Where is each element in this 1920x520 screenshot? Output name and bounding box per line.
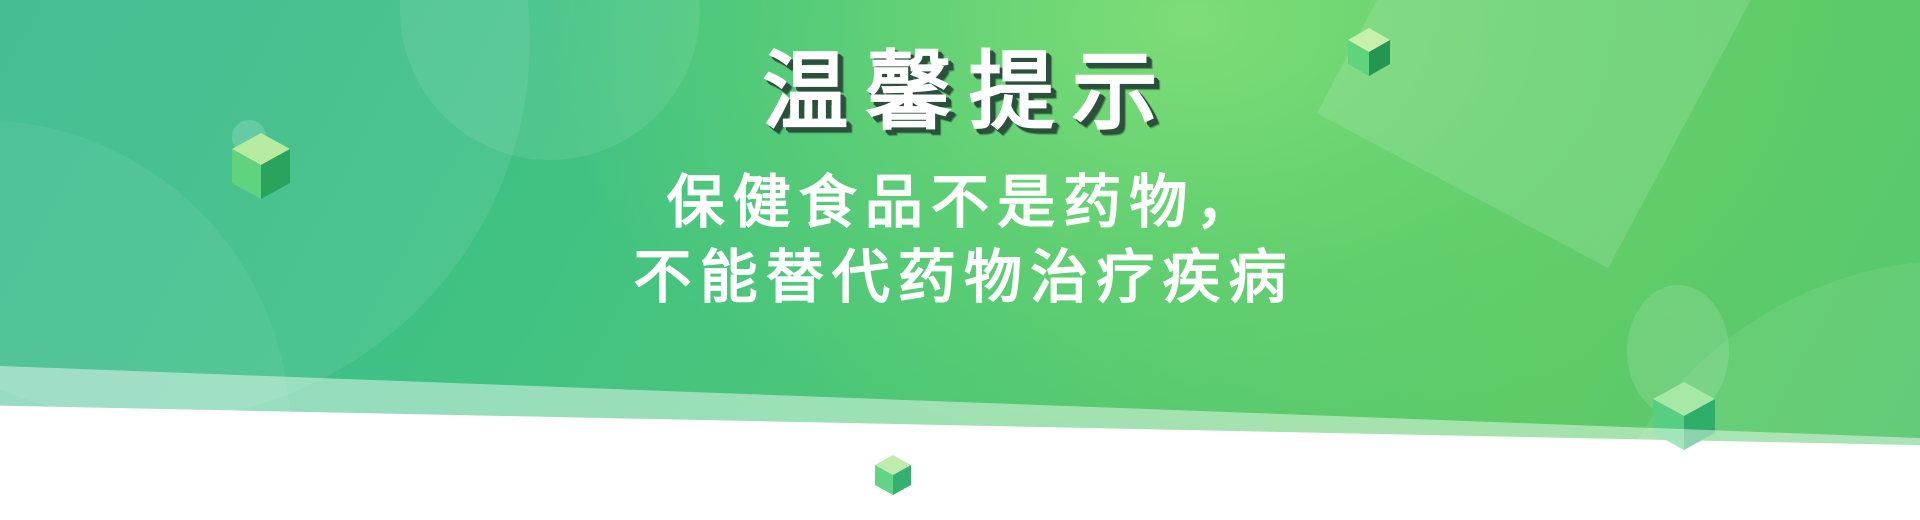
banner-subtitle: 保健食品不是药物， 不能替代药物治疗疾病 — [0, 165, 1920, 316]
banner-subtitle-line-2: 不能替代药物治疗疾病 — [0, 240, 1920, 315]
banner-headline: 温馨提示 — [0, 46, 1920, 139]
banner-text-block: 温馨提示 保健食品不是药物， 不能替代药物治疗疾病 — [0, 46, 1920, 316]
decorative-dot-bottom-center — [855, 455, 895, 495]
banner-subtitle-line-1: 保健食品不是药物， — [0, 165, 1920, 240]
decorative-cube-bottom-center — [875, 455, 911, 499]
promo-banner: 温馨提示 保健食品不是药物， 不能替代药物治疗疾病 — [0, 0, 1920, 520]
